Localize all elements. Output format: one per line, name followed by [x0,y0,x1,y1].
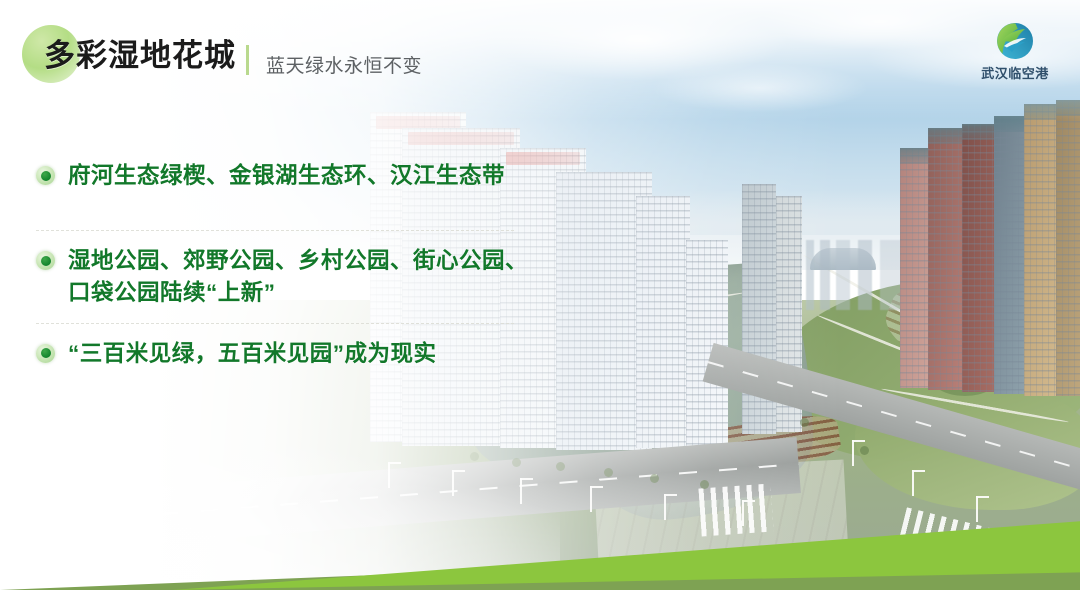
white-gradient-overlay-bottom [0,410,560,590]
brand-logo: 武汉临空港 [972,22,1058,82]
green-ring-dot-icon [36,166,55,185]
leaf-wave-circle-emblem-icon [996,22,1034,60]
bullet-text: 府河生态绿楔、金银湖生态环、汉江生态带 [68,160,505,192]
bullet-item: 湿地公园、郊野公园、乡村公园、街心公园、 口袋公园陆续“上新” [0,245,560,309]
bullet-text: “三百米见绿，五百米见园”成为现实 [68,338,437,370]
bullet-item: “三百米见绿，五百米见园”成为现实 [0,338,560,394]
slide-root: 多彩湿地花城 蓝天绿水永恒不变 [0,0,1080,590]
bullet-text-line: “三百米见绿，五百米见园”成为现实 [68,338,437,370]
bullet-divider [36,230,514,231]
bullet-item: 府河生态绿楔、金银湖生态环、汉江生态带 [0,160,560,216]
brand-logo-text: 武汉临空港 [972,63,1058,82]
page-title: 多彩湿地花城 [44,40,236,71]
title-separator [246,45,249,75]
bullet-text-line: 府河生态绿楔、金银湖生态环、汉江生态带 [68,160,505,192]
bullet-text-line: 湿地公园、郊野公园、乡村公园、街心公园、 [68,245,528,277]
bullet-text: 湿地公园、郊野公园、乡村公园、街心公园、 口袋公园陆续“上新” [68,245,528,309]
bullet-divider [36,323,514,324]
green-ring-dot-icon [36,251,55,270]
bullet-text-line: 口袋公园陆续“上新” [68,277,528,309]
page-subtitle: 蓝天绿水永恒不变 [266,51,422,78]
green-ring-dot-icon [36,344,55,363]
bullet-list: 府河生态绿楔、金银湖生态环、汉江生态带 湿地公园、郊野公园、乡村公园、街心公园、… [0,150,560,394]
